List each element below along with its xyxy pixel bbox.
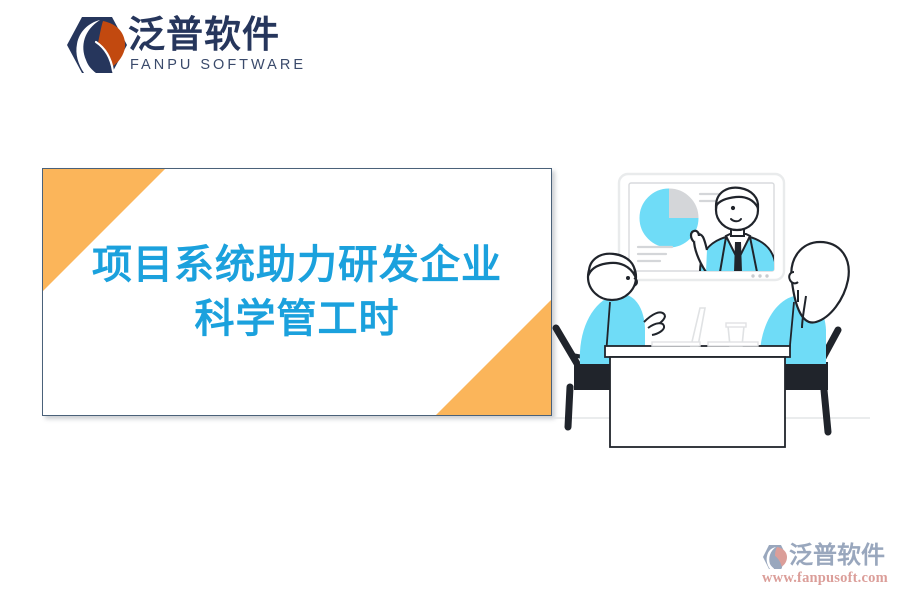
brand-header: 泛普软件 FANPU SOFTWARE — [66, 12, 296, 82]
video-conference-meeting-illustration — [548, 150, 882, 462]
title-line-2: 科学管工时 — [195, 294, 400, 344]
title-line-1: 项目系统助力研发企业 — [92, 240, 502, 290]
brand-name-cn: 泛普软件 — [128, 14, 280, 56]
fanpu-hexagon-logo-icon — [66, 14, 128, 76]
brand-name-en: FANPU SOFTWARE — [130, 57, 306, 73]
title-card: 项目系统助力研发企业 科学管工时 — [42, 168, 552, 416]
brand-wordmark: 泛普软件 FANPU SOFTWARE — [128, 14, 298, 76]
watermark-url: www.fanpusoft.com — [762, 569, 888, 587]
drinking-cup — [708, 323, 758, 346]
title-text-block: 项目系统助力研发企业 科学管工时 — [43, 169, 551, 415]
conference-table — [605, 346, 790, 447]
wall-mounted-video-screen — [619, 174, 784, 280]
pie-chart-on-screen — [639, 188, 699, 248]
watermark-brand-cn: 泛普软件 — [789, 540, 885, 570]
watermark: 泛普软件 www.fanpusoft.com — [762, 538, 892, 590]
fanpu-watermark-logo-icon — [762, 544, 788, 570]
screen-indicator-dots — [751, 274, 768, 277]
